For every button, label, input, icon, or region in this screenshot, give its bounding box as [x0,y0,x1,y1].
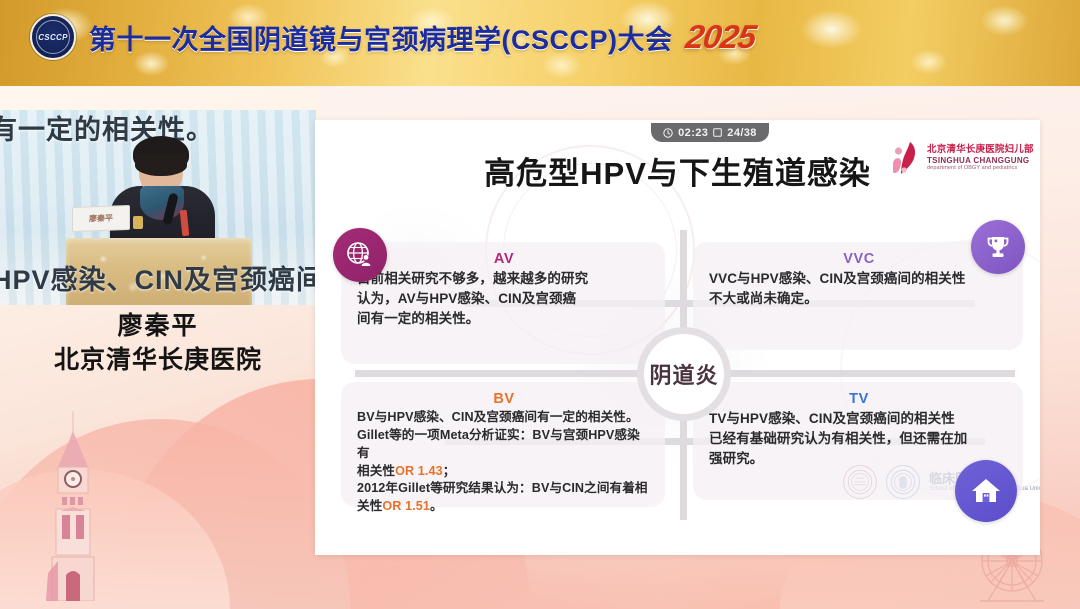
presentation-slide[interactable]: 02:23 24/38 北京清华长庚医院妇儿部 TSINGHUA CHANGGU… [315,120,1040,555]
card-bv-line: 关性OR 1.51。 [357,498,651,516]
card-av-line: 认为，AV与HPV感染、CIN及宫颈癌 [357,289,651,309]
card-vvc-line: VVC与HPV感染、CIN及宫颈癌间的相关性 [709,269,1009,289]
card-vvc-body: VVC与HPV感染、CIN及宫颈癌间的相关性 不大或尚未确定。 [709,269,1009,310]
speaker-scarf [140,186,184,220]
podium-nameplate: 廖秦平 [72,205,130,232]
trophy-icon [971,220,1025,274]
banner-title: 第十一次全国阴道镜与宫颈病理学(CSCCP)大会 [89,18,673,57]
card-tv-line: 强研究。 [709,449,1009,469]
csccp-logo-text: CSCCP [38,33,68,42]
card-bv-line: Gillet等的一项Meta分析证实：BV与宫颈HPV感染有 [357,427,651,463]
slide-timer-badge[interactable]: 02:23 24/38 [651,123,769,142]
card-bv-body: BV与HPV感染、CIN及宫颈癌间有一定的相关性。 Gillet等的一项Meta… [357,409,651,516]
csccp-logo-icon: CSCCP [30,14,76,60]
card-bv[interactable]: BV BV与HPV感染、CIN及宫颈癌间有一定的相关性。 Gillet等的一项M… [341,382,665,507]
card-av-line: 间有一定的相关性。 [357,309,651,329]
home-icon [955,460,1017,522]
banner-content: CSCCP 第十一次全国阴道镜与宫颈病理学(CSCCP)大会 2025 [30,14,755,60]
speaker-badge [133,216,143,229]
center-node: 阴道炎 [637,327,731,421]
clock-icon [663,128,673,138]
card-tv-line: 已经有基础研究认为有相关性，但还需在加 [709,429,1009,449]
speaker-name: 廖秦平 [0,310,316,344]
speaker-video-panel[interactable]: 有一定的相关性。 廖秦平 HPV感染、CIN及宫颈癌间有 [0,110,316,305]
center-node-label: 阴道炎 [649,358,718,390]
clock-tower-illustration [42,411,104,601]
banner-year: 2025 [683,18,758,56]
card-av-body: 目前相关研究不够多，越来越多的研究 认为，AV与HPV感染、CIN及宫颈癌 间有… [357,269,651,330]
card-vvc-line: 不大或尚未确定。 [709,289,1009,309]
page-icon [713,128,722,137]
speaker-organization: 北京清华长庚医院 [0,344,316,378]
speaker-hair [133,136,189,172]
card-tv-body: TV与HPV感染、CIN及宫颈癌间的相关性 已经有基础研究认为有相关性，但还需在… [709,409,1009,470]
card-bv-line: 2012年Gillet等研究结果认为：BV与CIN之间有着相 [357,480,651,498]
card-av-label: AV [357,252,651,268]
speaker-caption: 廖秦平 北京清华长庚医院 [0,310,316,378]
card-vvc-label: VVC [709,252,1009,268]
card-bv-label: BV [357,392,651,408]
conference-banner: CSCCP 第十一次全国阴道镜与宫颈病理学(CSCCP)大会 2025 [0,0,1080,86]
card-bv-line: 相关性OR 1.43； [357,463,651,481]
card-bv-line: BV与HPV感染、CIN及宫颈癌间有一定的相关性。 [357,409,651,427]
screen-root: CSCCP 第十一次全国阴道镜与宫颈病理学(CSCCP)大会 2025 [0,0,1080,609]
video-background-text-bottom: HPV感染、CIN及宫颈癌间有 [0,258,316,297]
card-av[interactable]: AV 目前相关研究不够多，越来越多的研究 认为，AV与HPV感染、CIN及宫颈癌… [341,242,665,364]
elapsed-time: 02:23 [678,127,708,139]
card-tv-line: TV与HPV感染、CIN及宫颈癌间的相关性 [709,409,1009,429]
slide-title: 高危型HPV与下生殖道感染 [315,148,1040,193]
globe-person-icon [333,228,387,282]
slide-page-indicator: 24/38 [727,127,757,139]
card-av-line: 目前相关研究不够多，越来越多的研究 [357,269,651,289]
card-tv-label: TV [709,392,1009,408]
